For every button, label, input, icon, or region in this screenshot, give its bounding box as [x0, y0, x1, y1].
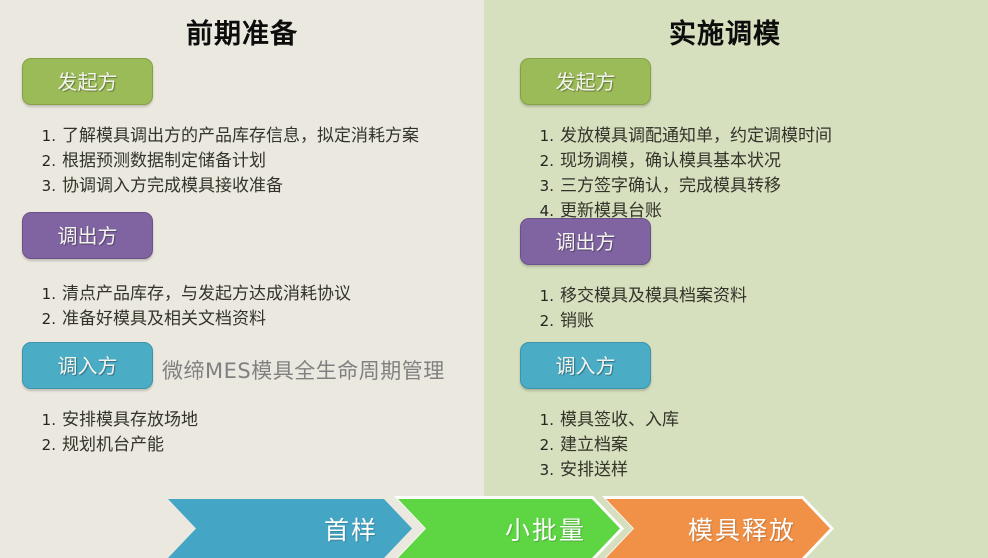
list-item: 现场调模，确认模具基本状况	[560, 149, 832, 174]
left-transfer-in-task-list: 安排模具存放场地 规划机台产能	[22, 408, 198, 458]
left-chip-initiator[interactable]: 发起方	[22, 58, 153, 105]
list-item: 三方签字确认，完成模具转移	[560, 174, 832, 199]
list-item: 清点产品库存，与发起方达成消耗协议	[62, 282, 351, 307]
stage-chevron-mold-release[interactable]: 模具释放	[606, 499, 830, 558]
right-panel: 实施调模 发起方 发放模具调配通知单，约定调模时间 现场调模，确认模具基本状况 …	[484, 0, 988, 558]
right-initiator-task-list: 发放模具调配通知单，约定调模时间 现场调模，确认模具基本状况 三方签字确认，完成…	[520, 124, 832, 224]
list-item: 模具签收、入库	[560, 408, 679, 433]
right-chip-transfer-out[interactable]: 调出方	[520, 218, 651, 265]
list-item: 销账	[560, 309, 747, 334]
left-chip-transfer-in[interactable]: 调入方	[22, 342, 153, 389]
stage-chevron-first-sample[interactable]: 首样	[168, 499, 412, 558]
slide-canvas: 前期准备 发起方 了解模具调出方的产品库存信息，拟定消耗方案 根据预测数据制定储…	[0, 0, 988, 558]
list-item: 安排送样	[560, 458, 679, 483]
right-chip-transfer-in[interactable]: 调入方	[520, 342, 651, 389]
right-panel-title: 实施调模	[484, 18, 988, 52]
list-item: 协调调入方完成模具接收准备	[62, 174, 419, 199]
left-transfer-out-task-list: 清点产品库存，与发起方达成消耗协议 准备好模具及相关文档资料	[22, 282, 351, 332]
right-transfer-in-task-list: 模具签收、入库 建立档案 安排送样	[520, 408, 679, 483]
stage-chevron-small-batch[interactable]: 小批量	[398, 499, 620, 558]
left-panel: 前期准备 发起方 了解模具调出方的产品库存信息，拟定消耗方案 根据预测数据制定储…	[0, 0, 484, 558]
stage-chevron-strip: 模具释放 小批量 首样	[168, 499, 793, 558]
left-chip-transfer-out[interactable]: 调出方	[22, 212, 153, 259]
list-item: 准备好模具及相关文档资料	[62, 307, 351, 332]
list-item: 安排模具存放场地	[62, 408, 198, 433]
list-item: 根据预测数据制定储备计划	[62, 149, 419, 174]
right-transfer-out-task-list: 移交模具及模具档案资料 销账	[520, 284, 747, 334]
list-item: 规划机台产能	[62, 433, 198, 458]
brand-watermark-label: 微缔MES模具全生命周期管理	[162, 355, 445, 385]
left-panel-title: 前期准备	[0, 18, 484, 52]
list-item: 移交模具及模具档案资料	[560, 284, 747, 309]
right-chip-initiator[interactable]: 发起方	[520, 58, 651, 105]
list-item: 建立档案	[560, 433, 679, 458]
left-initiator-task-list: 了解模具调出方的产品库存信息，拟定消耗方案 根据预测数据制定储备计划 协调调入方…	[22, 124, 419, 199]
list-item: 了解模具调出方的产品库存信息，拟定消耗方案	[62, 124, 419, 149]
list-item: 发放模具调配通知单，约定调模时间	[560, 124, 832, 149]
